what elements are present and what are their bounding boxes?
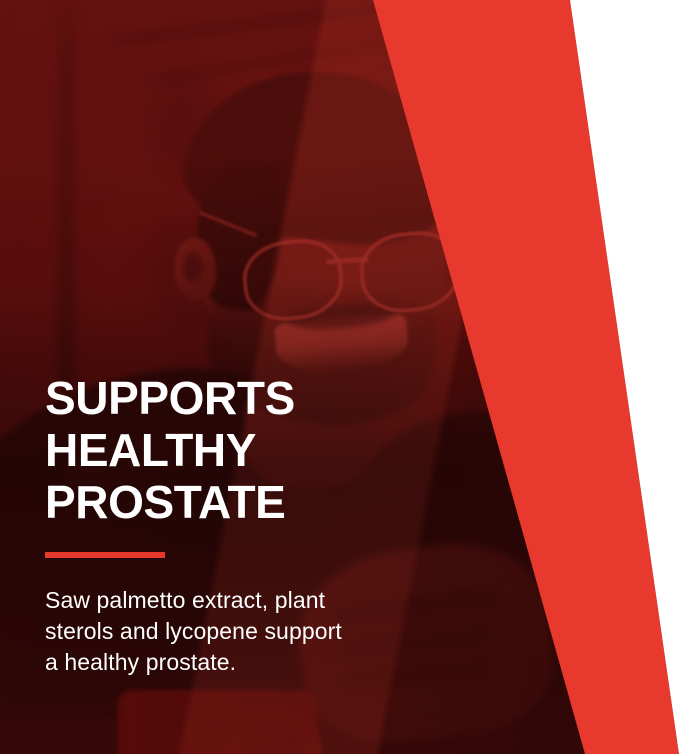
accent-rule xyxy=(45,552,165,558)
subcopy-line-1: Saw palmetto extract, plant xyxy=(45,585,440,616)
copy-block: SUPPORTS HEALTHY PROSTATE Saw palmetto e… xyxy=(45,372,465,678)
product-benefit-banner: SUPPORTS HEALTHY PROSTATE Saw palmetto e… xyxy=(0,0,679,754)
subcopy-line-2: sterols and lycopene support xyxy=(45,616,440,647)
subcopy-line-3: a healthy prostate. xyxy=(45,647,440,678)
headline-line-1: SUPPORTS xyxy=(45,372,465,424)
subcopy: Saw palmetto extract, plant sterols and … xyxy=(45,585,440,678)
headline-line-2: HEALTHY xyxy=(45,424,465,476)
headline-line-3: PROSTATE xyxy=(45,476,465,528)
headline: SUPPORTS HEALTHY PROSTATE xyxy=(45,372,465,528)
